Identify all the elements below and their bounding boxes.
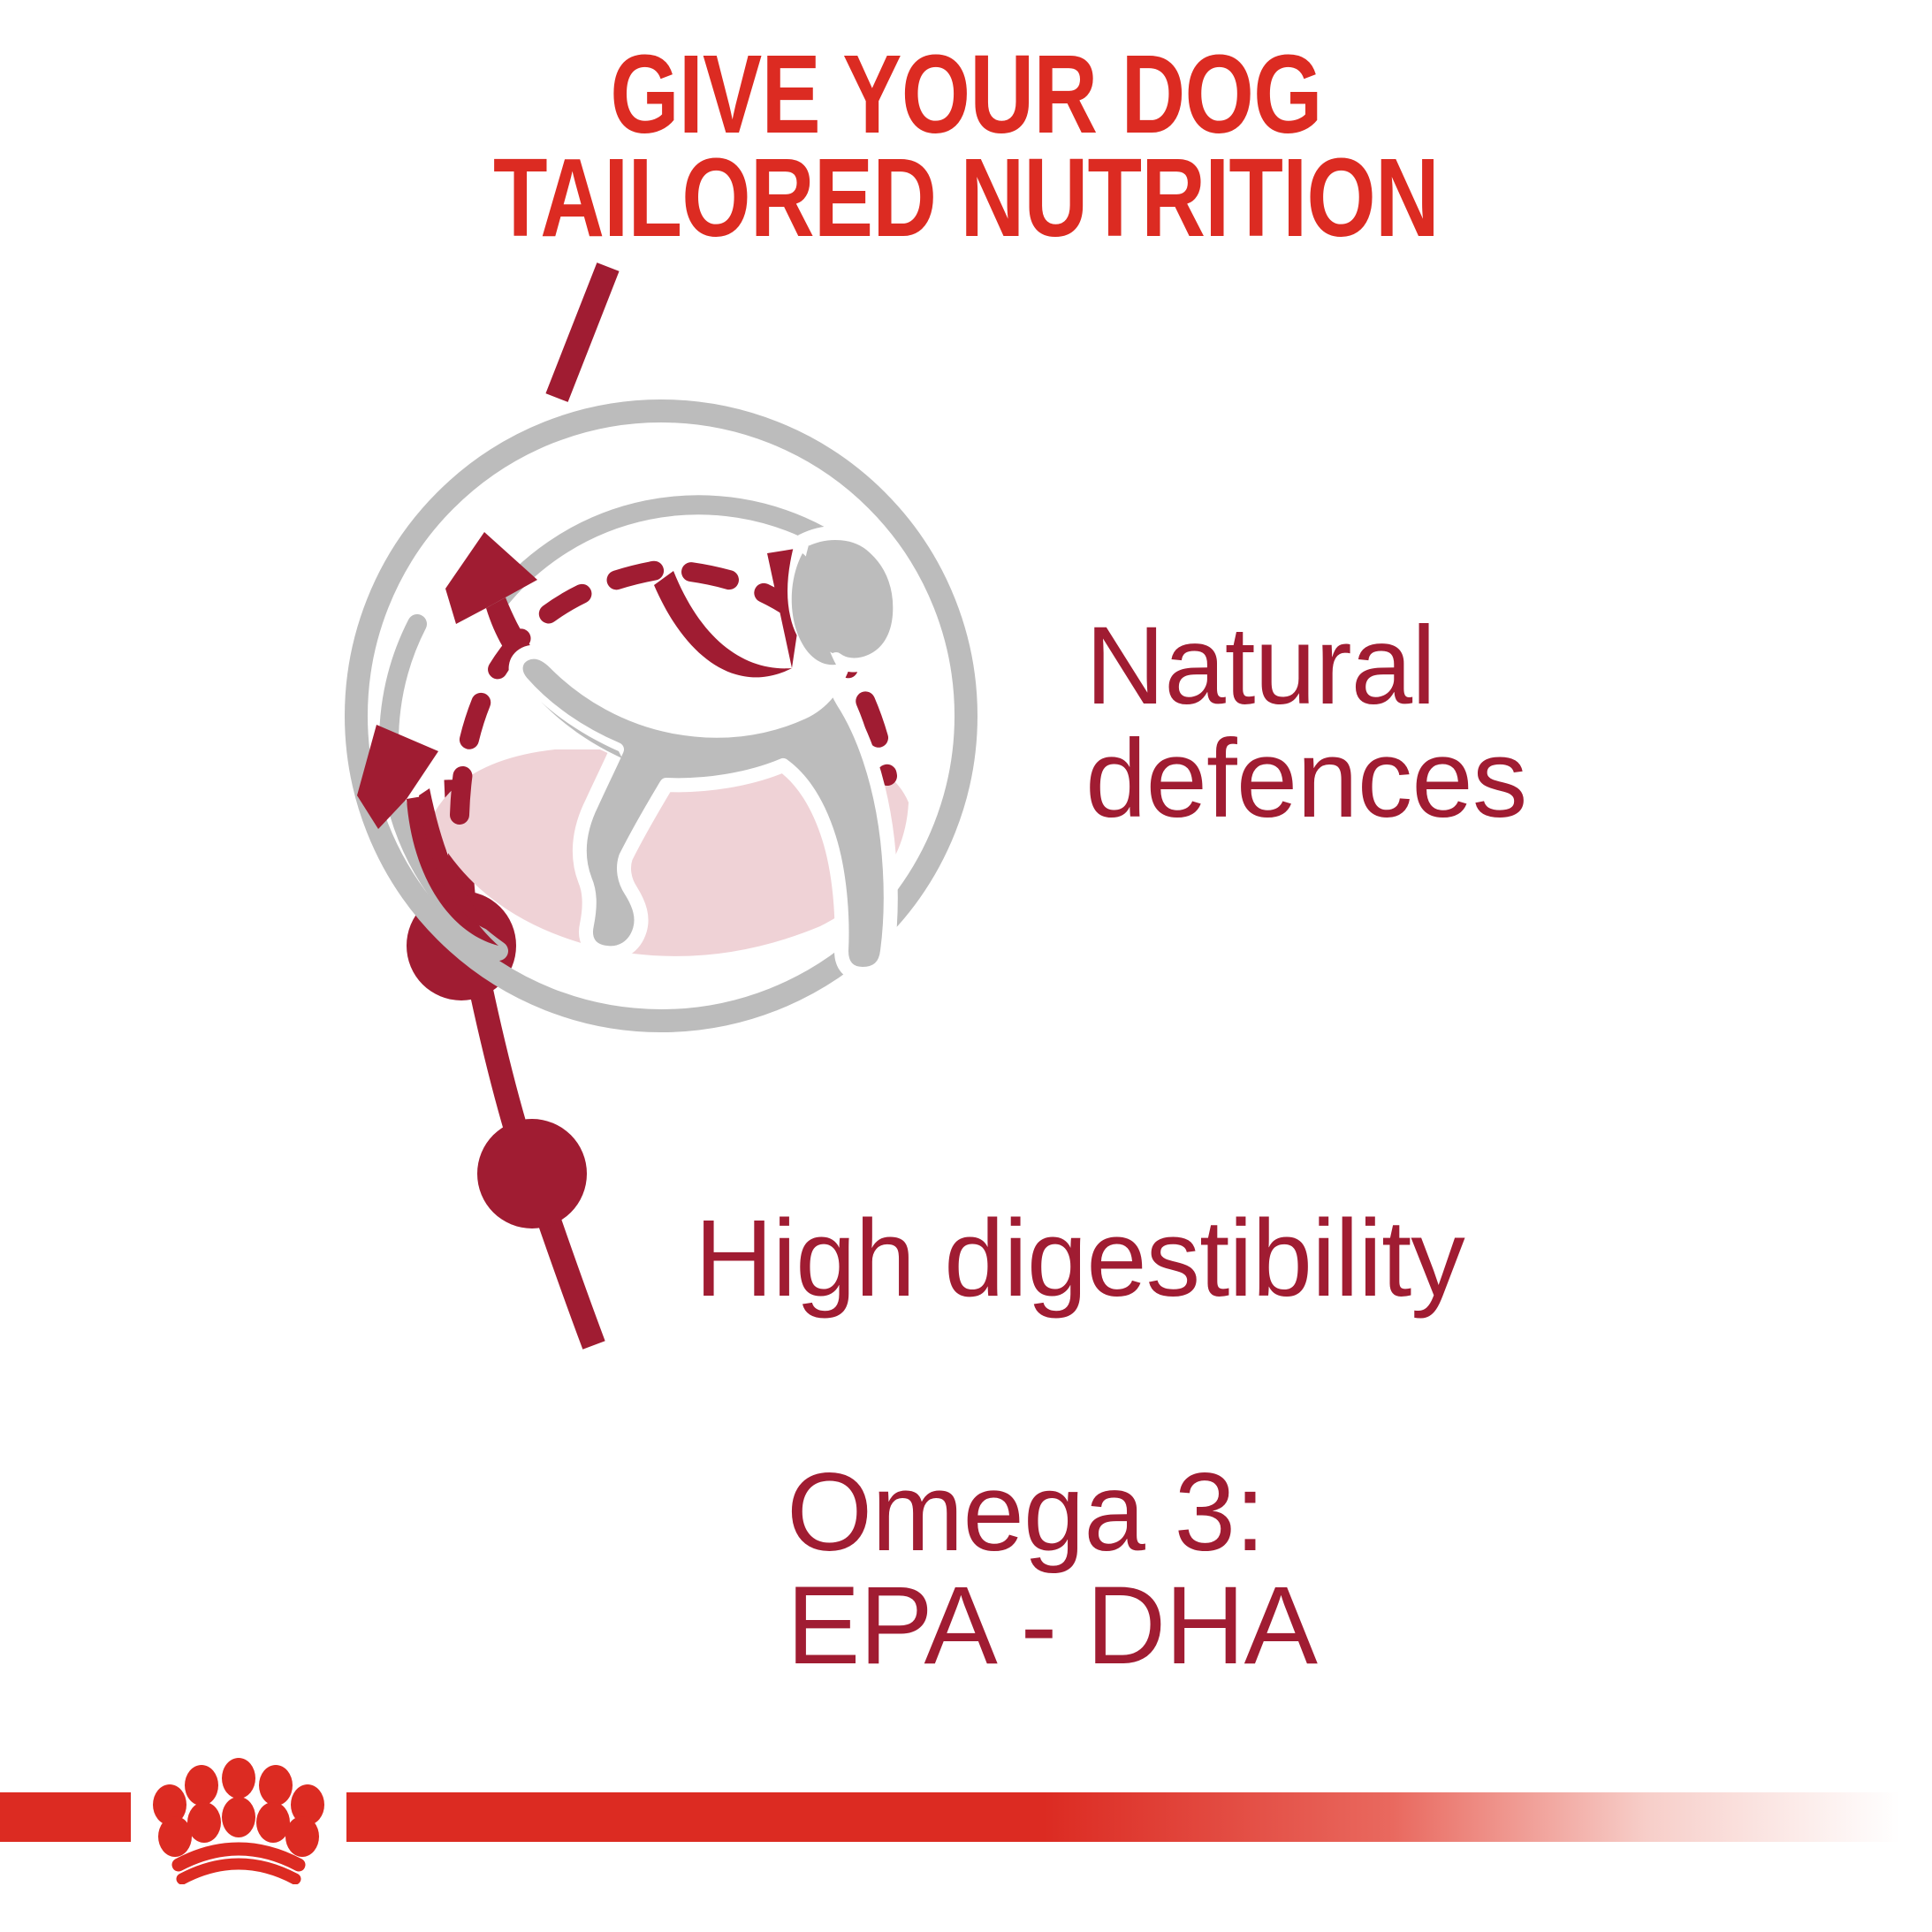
royal-canin-crown-logo [131,1755,346,1884]
crown-dot-mid-right [256,1802,290,1843]
brand-bar [0,1792,1932,1842]
crown-dot-mid-center [222,1797,255,1837]
crown-dot-top-right [259,1765,293,1806]
feature-label-natural-defences: Natural defences [1085,610,1526,835]
brand-bar-left-segment [0,1792,131,1842]
feature-label-high-digestibility: High digestibility [695,1204,1464,1314]
crown-dot-mid-left [187,1802,221,1843]
connector-segment-top [557,267,608,398]
feature-label-omega-3: Omega 3: EPA - DHA [787,1457,1317,1682]
natural-defences-icon [325,380,997,1052]
crown-dot-low-left [158,1816,192,1857]
brand-bar-right-segment [346,1792,1932,1842]
connector-dot-omega [477,1119,587,1228]
crown-dot-top-left [185,1765,218,1806]
connector-segment-bottom [539,1191,594,1345]
poster-canvas: GIVE YOUR DOG TAILORED NUTRITION [0,0,1932,1932]
crown-dot-low-right [285,1816,319,1857]
crown-dot-top-center [222,1758,255,1799]
page-title: GIVE YOUR DOG TAILORED NUTRITION [194,42,1739,249]
crown-arc-lower [182,1864,295,1879]
